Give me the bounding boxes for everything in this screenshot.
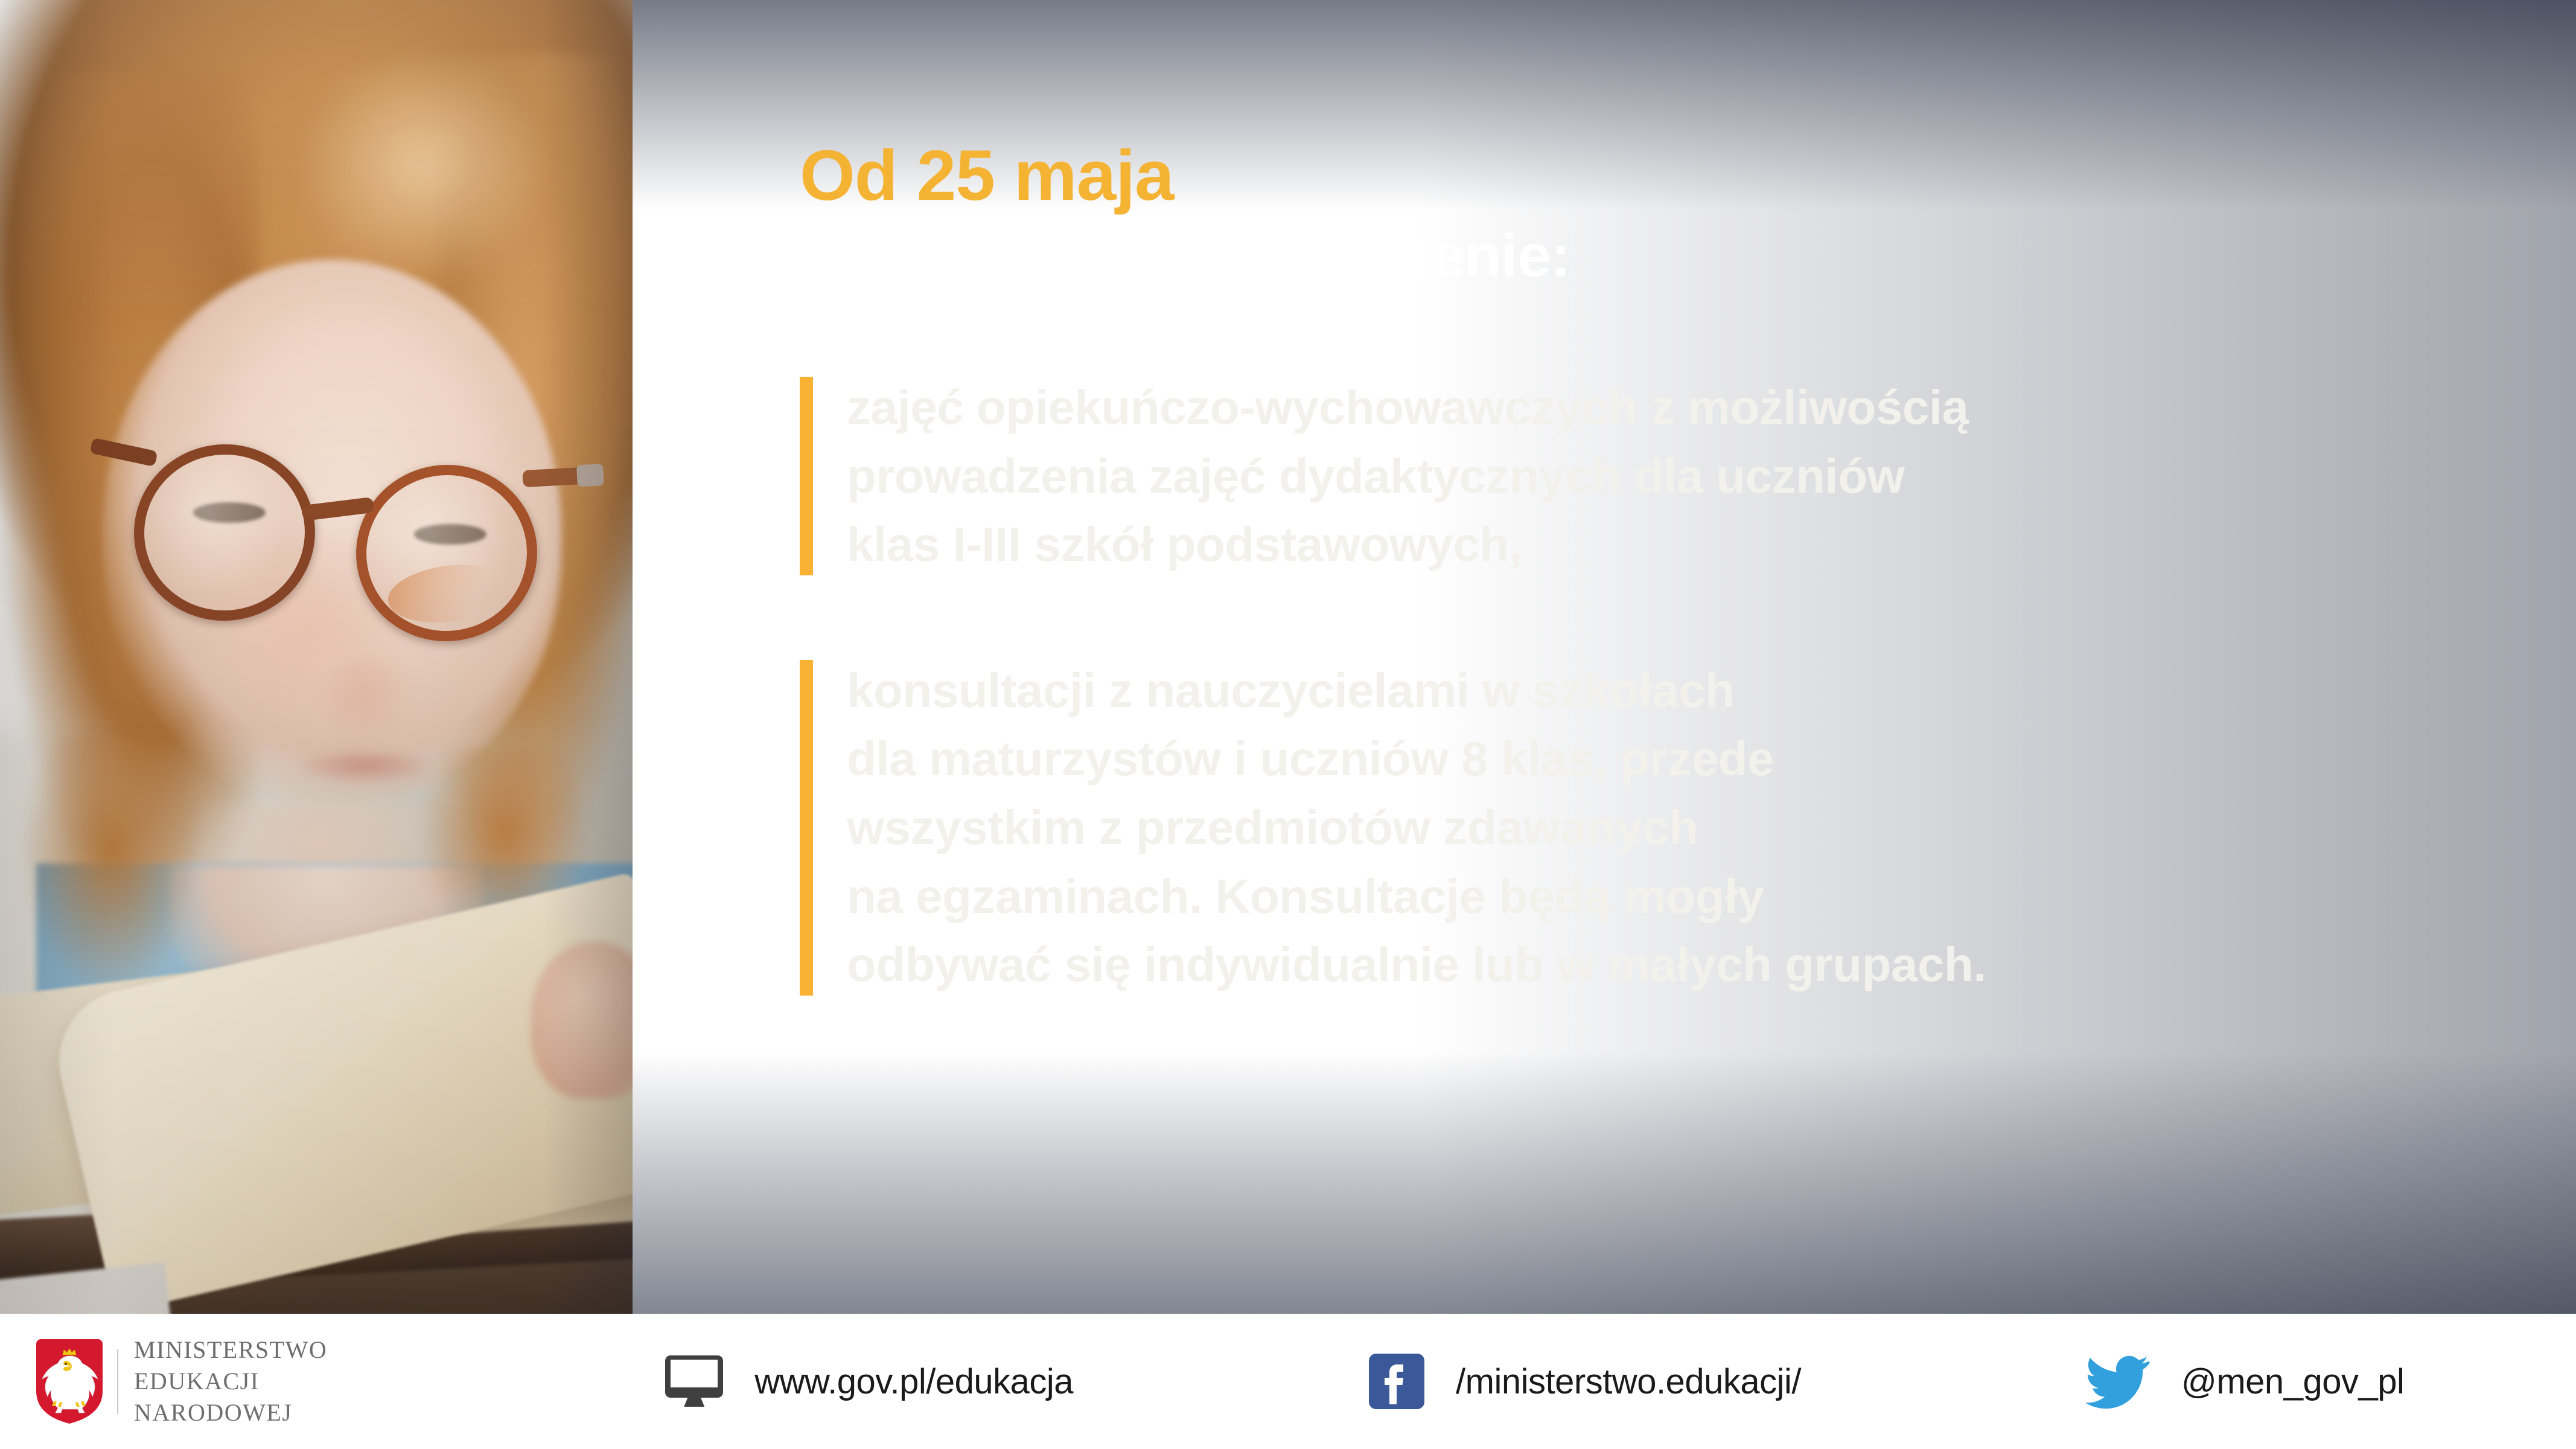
polish-eagle-shield-icon xyxy=(36,1339,103,1424)
footer-bar: MINISTERSTWO EDUKACJI NARODOWEJ www.gov.… xyxy=(0,1314,2576,1449)
logo-divider xyxy=(117,1349,118,1414)
bullet-2-text: konsultacji z nauczycielami w szkołach d… xyxy=(847,656,2502,999)
bullet-1-text: zajęć opiekuńczo-wychowawczych z możliwo… xyxy=(847,373,2502,579)
bullet-1-line-1: zajęć opiekuńczo-wychowawczych z możliwo… xyxy=(847,373,2502,442)
monitor-icon xyxy=(665,1355,723,1407)
facebook-label: /ministerstwo.edukacji/ xyxy=(1456,1361,1801,1402)
bullet-2-line-5: odbywać się indywidualnie lub w małych g… xyxy=(847,930,2502,999)
infographic-poster: Od 25 maja umożliwiamy prowadzenie: zaję… xyxy=(0,0,2576,1449)
website-link[interactable]: www.gov.pl/edukacja xyxy=(665,1355,1073,1407)
ministry-line-2: EDUKACJI xyxy=(134,1366,327,1397)
photo-vignette xyxy=(0,0,633,1314)
photo-panel xyxy=(0,0,633,1314)
facebook-link[interactable]: /ministerstwo.edukacji/ xyxy=(1369,1354,1801,1409)
ministry-line-3: NARODOWEJ xyxy=(134,1397,327,1428)
bullet-accent-bar xyxy=(800,377,813,575)
ministry-name: MINISTERSTWO EDUKACJI NARODOWEJ xyxy=(134,1334,327,1428)
bullet-2-line-4: na egzaminach. Konsultacje będą mogły xyxy=(847,862,2502,931)
content-column: Od 25 maja umożliwiamy prowadzenie: zaję… xyxy=(800,0,2502,999)
twitter-label: @men_gov_pl xyxy=(2181,1361,2404,1402)
headline-subtitle: umożliwiamy prowadzenie: xyxy=(800,222,2502,290)
headline-block: Od 25 maja umożliwiamy prowadzenie: xyxy=(800,140,2502,290)
bullet-2-line-3: wszystkim z przedmiotów zdawanych xyxy=(847,793,2502,862)
bullet-2-line-1: konsultacji z nauczycielami w szkołach xyxy=(847,656,2502,725)
twitter-link[interactable]: @men_gov_pl xyxy=(2085,1354,2404,1409)
bullet-item-2: konsultacji z nauczycielami w szkołach d… xyxy=(800,656,2502,999)
ministry-logo: MINISTERSTWO EDUKACJI NARODOWEJ xyxy=(36,1334,327,1428)
eagle-emblem-icon xyxy=(40,1345,99,1416)
website-label: www.gov.pl/edukacja xyxy=(754,1361,1073,1402)
bullet-1-line-3: klas I-III szkół podstawowych, xyxy=(847,510,2502,579)
ministry-line-1: MINISTERSTWO xyxy=(134,1334,327,1366)
headline-date: Od 25 maja xyxy=(800,140,2502,211)
bullet-accent-bar xyxy=(800,660,813,996)
facebook-icon xyxy=(1369,1354,1424,1409)
twitter-icon xyxy=(2085,1354,2150,1409)
bullet-item-1: zajęć opiekuńczo-wychowawczych z możliwo… xyxy=(800,373,2502,579)
bullet-1-line-2: prowadzenia zajęć dydaktycznych dla uczn… xyxy=(847,442,2502,511)
bullet-2-line-2: dla maturzystów i uczniów 8 klas, przede xyxy=(847,724,2502,793)
